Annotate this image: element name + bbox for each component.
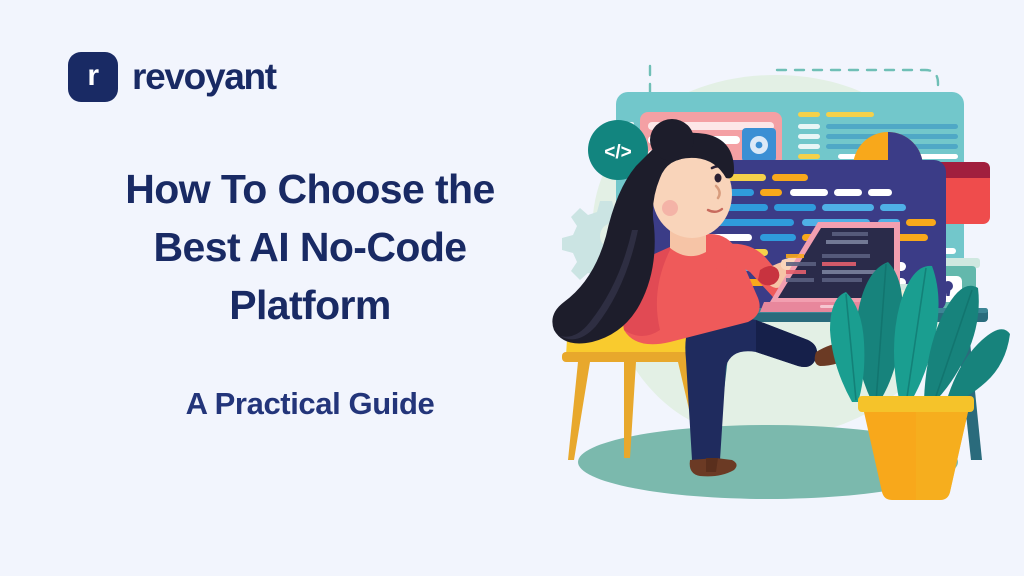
logo-mark-letter: r (87, 61, 98, 91)
brand-logo[interactable]: r revoyant (68, 52, 276, 102)
headline-line-1: How To Choose the (125, 166, 494, 212)
code-bubble-glyph: </> (604, 142, 631, 163)
headline-line-3: Platform (229, 282, 391, 328)
poster-canvas: r revoyant How To Choose the Best AI No-… (0, 0, 1024, 576)
page-subtitle: A Practical Guide (40, 386, 580, 422)
headline-line-2: Best AI No-Code (154, 224, 467, 270)
logo-mark-icon: r (68, 52, 118, 102)
subtitle-text: A Practical Guide (40, 386, 580, 422)
gear-badge (742, 128, 776, 162)
page-title: How To Choose the Best AI No-Code Platfo… (40, 160, 580, 335)
hero-illustration: </> (520, 30, 1020, 540)
logo-wordmark: revoyant (132, 56, 276, 98)
